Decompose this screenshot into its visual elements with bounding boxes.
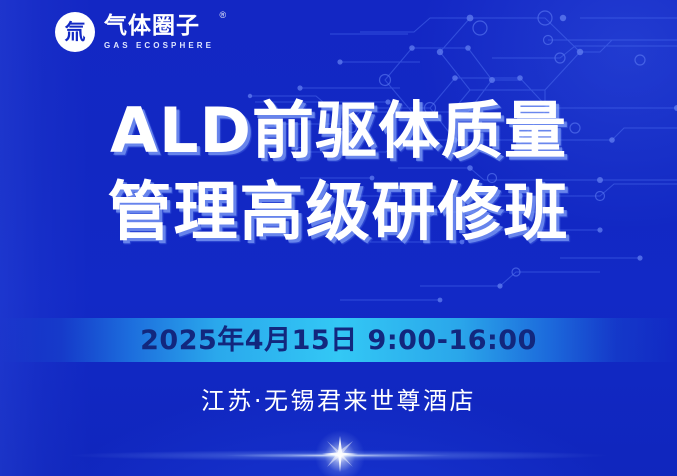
- logo-mark-glyph: 氚: [65, 22, 86, 43]
- brand-name-en: GAS ECOSPHERE: [104, 42, 214, 50]
- registered-trademark-icon: ®: [219, 11, 226, 20]
- poster-root: 氚 气体圈子 ® GAS ECOSPHERE ALD前驱体质量 管理高级研修班 …: [0, 0, 677, 476]
- lens-flare-streak: [68, 450, 608, 461]
- date-time-banner: 2025年4月15日 9:00-16:00: [0, 318, 677, 362]
- venue-text: 江苏·无锡君来世尊酒店: [0, 389, 677, 413]
- title-line-2: 管理高级研修班: [0, 181, 677, 245]
- poster-title: ALD前驱体质量 管理高级研修班: [0, 100, 677, 245]
- brand-logo-text: 气体圈子 ® GAS ECOSPHERE: [104, 14, 214, 51]
- lens-flare-starburst-icon: [322, 436, 358, 472]
- title-line-1: ALD前驱体质量: [0, 100, 677, 162]
- brand-logo: 氚 气体圈子 ® GAS ECOSPHERE: [55, 9, 214, 55]
- date-time-text: 2025年4月15日 9:00-16:00: [140, 327, 537, 354]
- brand-name-cn: 气体圈子: [104, 15, 214, 39]
- gas-ecosphere-circle-logo-icon: 氚: [55, 12, 95, 52]
- lens-flare-core: [300, 426, 380, 476]
